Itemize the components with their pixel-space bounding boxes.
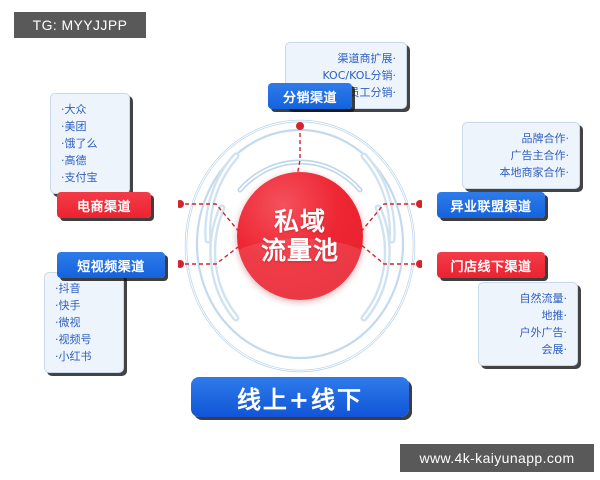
- core-title-line-1: 私域: [274, 207, 326, 237]
- channel-chip-duanshipin[interactable]: 短视频渠道: [57, 252, 165, 278]
- detail-item: 户外广告·: [489, 324, 567, 341]
- detail-item: 广告主合作·: [473, 147, 569, 164]
- detail-item: ·视频号: [55, 331, 113, 348]
- detail-item: ·微视: [55, 314, 113, 331]
- detail-item: ·快手: [55, 297, 113, 314]
- detail-item: 会展·: [489, 341, 567, 358]
- detail-panel-dianshang: ·大众 ·美团 ·饿了么 ·高德 ·支付宝: [50, 93, 130, 194]
- detail-item: ·饿了么: [61, 135, 119, 152]
- watermark-top-left: TG: MYYJJPP: [14, 12, 146, 38]
- center-core-circle: 私域 流量池: [237, 172, 363, 300]
- detail-item: 地推·: [489, 307, 567, 324]
- detail-item: ·抖音: [55, 280, 113, 297]
- detail-item: ·美团: [61, 118, 119, 135]
- channel-chip-dianshang[interactable]: 电商渠道: [57, 192, 151, 218]
- detail-item: ·小红书: [55, 348, 113, 365]
- diagram-canvas: 私域 流量池 渠道商扩展· KOC/KOL分销· 员工分销· ·大众 ·美团 ·…: [0, 0, 600, 480]
- core-title-line-2: 流量池: [261, 236, 339, 266]
- bottom-banner: 线上+线下: [191, 377, 409, 417]
- detail-item: 自然流量·: [489, 290, 567, 307]
- detail-item: ·大众: [61, 101, 119, 118]
- detail-panel-yiye: 品牌合作· 广告主合作· 本地商家合作·: [462, 122, 580, 189]
- detail-item: KOC/KOL分销·: [296, 67, 396, 84]
- channel-chip-mendian[interactable]: 门店线下渠道: [437, 252, 545, 278]
- detail-item: 渠道商扩展·: [296, 50, 396, 67]
- watermark-bottom-right: www.4k-kaiyunapp.com: [400, 444, 594, 472]
- detail-panel-duanshipin: ·抖音 ·快手 ·微视 ·视频号 ·小红书: [44, 272, 124, 373]
- detail-item: 品牌合作·: [473, 130, 569, 147]
- detail-item: ·支付宝: [61, 169, 119, 186]
- detail-item: ·高德: [61, 152, 119, 169]
- detail-item: 本地商家合作·: [473, 164, 569, 181]
- detail-panel-mendian: 自然流量· 地推· 户外广告· 会展·: [478, 282, 578, 366]
- channel-chip-yiye[interactable]: 异业联盟渠道: [437, 192, 545, 218]
- channel-chip-fenxiao[interactable]: 分销渠道: [268, 83, 352, 109]
